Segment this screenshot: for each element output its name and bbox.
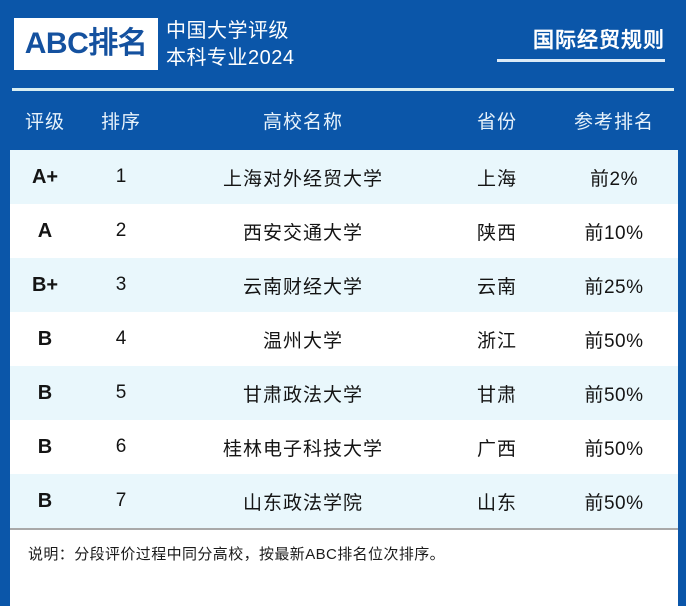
cell-reference-rank: 前50% (550, 420, 678, 474)
cell-order: 4 (80, 312, 162, 366)
cell-order: 5 (80, 366, 162, 420)
brand-block: ABC排名 中国大学评级 本科专业2024 (14, 18, 295, 72)
cell-order: 3 (80, 258, 162, 312)
card-header: ABC排名 中国大学评级 本科专业2024 国际经贸规则 (0, 0, 686, 91)
cell-province: 浙江 (444, 312, 550, 366)
cell-university-name: 上海对外经贸大学 (162, 150, 444, 204)
cell-reference-rank: 前50% (550, 366, 678, 420)
cell-order: 7 (80, 474, 162, 528)
cell-grade: B (10, 312, 80, 366)
cell-grade: B (10, 366, 80, 420)
document-title-block: 国际经贸规则 (497, 28, 665, 62)
table-row: B 7 山东政法学院 山东 前50% (10, 474, 678, 528)
page-title: 国际经贸规则 (497, 28, 665, 54)
logo-label: ABC排名 (25, 29, 148, 59)
footnote: 说明：分段评价过程中同分高校，按最新ABC排名位次排序。 (10, 530, 678, 576)
table-row: B 6 桂林电子科技大学 广西 前50% (10, 420, 678, 474)
cell-province: 甘肃 (444, 366, 550, 420)
brand-subtitle-line2: 本科专业2024 (166, 45, 295, 72)
table-header-row: 评级 排序 高校名称 省份 参考排名 (10, 91, 678, 150)
brand-subtitle-line1: 中国大学评级 (166, 18, 295, 45)
title-underline (497, 59, 665, 62)
table-row: A 2 西安交通大学 陕西 前10% (10, 204, 678, 258)
table-header: 评级 排序 高校名称 省份 参考排名 (10, 91, 678, 150)
table-body: A+ 1 上海对外经贸大学 上海 前2% A 2 西安交通大学 陕西 前10% … (10, 150, 678, 528)
column-header-grade: 评级 (10, 91, 80, 150)
cell-province: 上海 (444, 150, 550, 204)
cell-order: 1 (80, 150, 162, 204)
cell-university-name: 云南财经大学 (162, 258, 444, 312)
cell-reference-rank: 前10% (550, 204, 678, 258)
table-row: A+ 1 上海对外经贸大学 上海 前2% (10, 150, 678, 204)
cell-university-name: 甘肃政法大学 (162, 366, 444, 420)
cell-order: 2 (80, 204, 162, 258)
cell-grade: A+ (10, 150, 80, 204)
table-container: 评级 排序 高校名称 省份 参考排名 A+ 1 上海对外经贸大学 上海 前2% … (10, 91, 678, 606)
footnote-text: 说明：分段评价过程中同分高校，按最新ABC排名位次排序。 (28, 543, 445, 564)
cell-grade: B+ (10, 258, 80, 312)
column-header-order: 排序 (80, 91, 162, 150)
cell-university-name: 山东政法学院 (162, 474, 444, 528)
column-header-ref: 参考排名 (550, 91, 678, 150)
column-header-prov: 省份 (444, 91, 550, 150)
brand-subtitle: 中国大学评级 本科专业2024 (166, 18, 295, 72)
table-row: B 4 温州大学 浙江 前50% (10, 312, 678, 366)
cell-province: 山东 (444, 474, 550, 528)
table-row: B 5 甘肃政法大学 甘肃 前50% (10, 366, 678, 420)
cell-reference-rank: 前50% (550, 312, 678, 366)
cell-grade: B (10, 420, 80, 474)
cell-university-name: 温州大学 (162, 312, 444, 366)
cell-province: 广西 (444, 420, 550, 474)
cell-reference-rank: 前25% (550, 258, 678, 312)
cell-reference-rank: 前50% (550, 474, 678, 528)
cell-province: 云南 (444, 258, 550, 312)
cell-reference-rank: 前2% (550, 150, 678, 204)
abc-ranking-logo: ABC排名 (14, 18, 158, 70)
table-row: B+ 3 云南财经大学 云南 前25% (10, 258, 678, 312)
cell-grade: A (10, 204, 80, 258)
cell-university-name: 桂林电子科技大学 (162, 420, 444, 474)
cell-university-name: 西安交通大学 (162, 204, 444, 258)
cell-order: 6 (80, 420, 162, 474)
cell-province: 陕西 (444, 204, 550, 258)
ranking-card: ABC排名 中国大学评级 本科专业2024 国际经贸规则 评级 排序 高校名称 (0, 0, 686, 606)
cell-grade: B (10, 474, 80, 528)
column-header-name: 高校名称 (162, 91, 444, 150)
ranking-table: 评级 排序 高校名称 省份 参考排名 A+ 1 上海对外经贸大学 上海 前2% … (10, 91, 678, 528)
